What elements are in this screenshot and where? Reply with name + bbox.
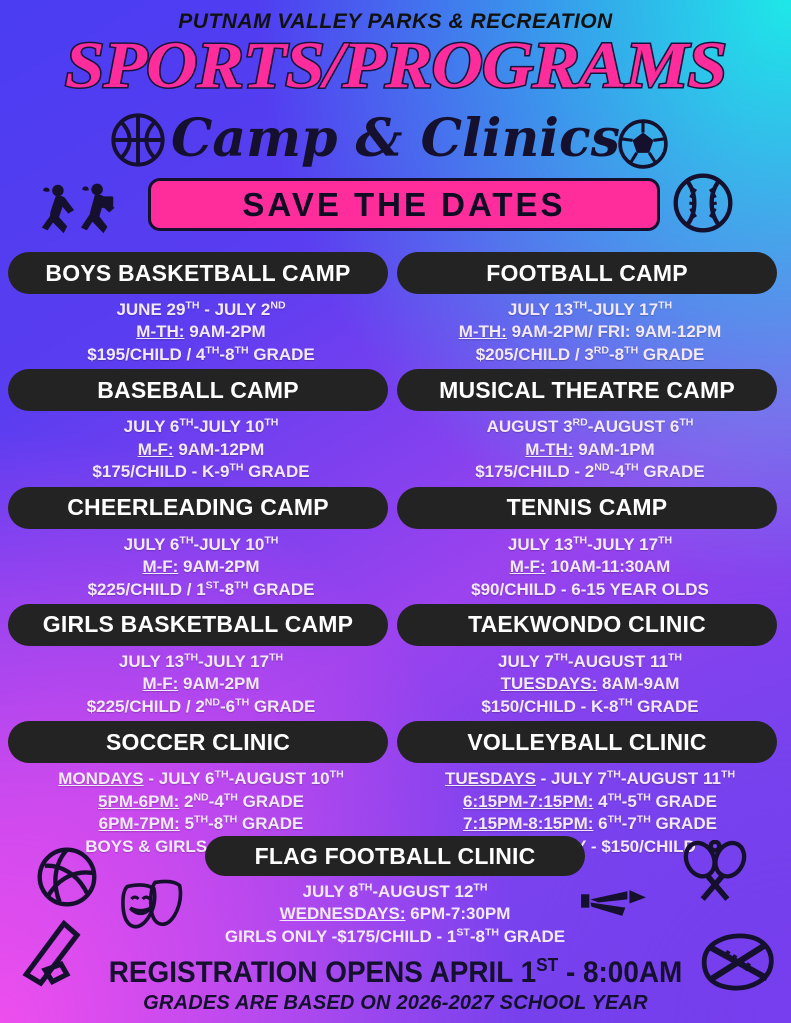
program-entry-flag-football[interactable]: FLAG FOOTBALL CLINIC JULY 8TH-AUGUST 12T…	[205, 836, 585, 948]
grades-note: GRADES ARE BASED ON 2026-2027 SCHOOL YEA…	[0, 992, 791, 1015]
program-title-pill[interactable]: FLAG FOOTBALL CLINIC	[205, 836, 585, 876]
program-dates: JULY 7TH-AUGUST 11TH	[397, 651, 783, 673]
clinic-day-range: TUESDAYS - JULY 7TH-AUGUST 11TH	[397, 768, 783, 790]
clinic-day-range: MONDAYS - JULY 6TH-AUGUST 10TH	[8, 768, 394, 790]
program-details: JULY 6TH-JULY 10TH M-F: 9AM-12PM $175/CH…	[8, 411, 394, 483]
clinic-session-2: 6PM-7PM: 5TH-8TH GRADE	[8, 813, 394, 835]
program-entry-musical-theatre[interactable]: MUSICAL THEATRE CAMP AUGUST 3RD-AUGUST 6…	[397, 369, 783, 483]
program-title-pill[interactable]: SOCCER CLINIC	[8, 721, 388, 763]
clinic-session-1: 6:15PM-7:15PM: 4TH-5TH GRADE	[397, 791, 783, 813]
program-entry-football[interactable]: FOOTBALL CAMP JULY 13TH-JULY 17TH M-TH: …	[397, 252, 783, 366]
program-dates: JULY 6TH-JULY 10TH	[8, 534, 394, 556]
program-schedule: M-F: 9AM-2PM	[8, 556, 394, 578]
program-title-pill[interactable]: CHEERLEADING CAMP	[8, 487, 388, 529]
left-program-column: BOYS BASKETBALL CAMP JUNE 29TH - JULY 2N…	[8, 252, 394, 861]
program-dates: JULY 13TH-JULY 17TH	[8, 651, 394, 673]
program-dates: JULY 13TH-JULY 17TH	[397, 299, 783, 321]
program-title-pill[interactable]: GIRLS BASKETBALL CAMP	[8, 604, 388, 646]
clinic-session-1: 5PM-6PM: 2ND-4TH GRADE	[8, 791, 394, 813]
footer-block: REGISTRATION OPENS APRIL 1ST - 8:00AM GR…	[0, 954, 791, 1015]
program-title-pill[interactable]: BOYS BASKETBALL CAMP	[8, 252, 388, 294]
program-price-grade: $225/CHILD / 2ND-6TH GRADE	[8, 696, 394, 718]
volleyball-icon	[36, 846, 98, 908]
program-details: JUNE 29TH - JULY 2ND M-TH: 9AM-2PM $195/…	[8, 294, 394, 366]
registration-notice: REGISTRATION OPENS APRIL 1ST - 8:00AM	[28, 954, 764, 990]
program-details: JULY 6TH-JULY 10TH M-F: 9AM-2PM $225/CHI…	[8, 529, 394, 601]
program-price-grade: $225/CHILD / 1ST-8TH GRADE	[8, 579, 394, 601]
theatre-masks-icon	[120, 875, 192, 929]
program-schedule: M-TH: 9AM-1PM	[397, 439, 783, 461]
right-program-column: FOOTBALL CAMP JULY 13TH-JULY 17TH M-TH: …	[397, 252, 783, 861]
program-schedule: M-F: 9AM-12PM	[8, 439, 394, 461]
baseball-icon	[672, 172, 734, 234]
taekwondo-belt-icon	[578, 884, 650, 920]
program-price-grade: $195/CHILD / 4TH-8TH GRADE	[8, 344, 394, 366]
program-title-pill[interactable]: FOOTBALL CAMP	[397, 252, 777, 294]
program-entry-girls-basketball[interactable]: GIRLS BASKETBALL CAMP JULY 13TH-JULY 17T…	[8, 604, 394, 718]
program-title-pill[interactable]: MUSICAL THEATRE CAMP	[397, 369, 777, 411]
program-schedule: WEDNESDAYS: 6PM-7:30PM	[205, 903, 585, 925]
program-title-pill[interactable]: BASEBALL CAMP	[8, 369, 388, 411]
program-details: JULY 7TH-AUGUST 11TH TUESDAYS: 8AM-9AM $…	[397, 646, 783, 718]
program-price-grade: $150/CHILD - K-8TH GRADE	[397, 696, 783, 718]
runners-icon	[36, 180, 134, 238]
program-dates: AUGUST 3RD-AUGUST 6TH	[397, 416, 783, 438]
program-details: JULY 8TH-AUGUST 12TH WEDNESDAYS: 6PM-7:3…	[205, 876, 585, 948]
program-details: JULY 13TH-JULY 17TH M-F: 9AM-2PM $225/CH…	[8, 646, 394, 718]
tennis-rackets-icon	[678, 840, 752, 904]
basketball-icon	[110, 112, 166, 168]
program-dates: JULY 13TH-JULY 17TH	[397, 534, 783, 556]
program-dates: JULY 8TH-AUGUST 12TH	[205, 881, 585, 903]
save-the-dates-label: SAVE THE DATES	[242, 186, 565, 224]
program-entry-tennis[interactable]: TENNIS CAMP JULY 13TH-JULY 17TH M-F: 10A…	[397, 487, 783, 601]
program-price-grade: $175/CHILD - K-9TH GRADE	[8, 461, 394, 483]
program-schedule: M-TH: 9AM-2PM/ FRI: 9AM-12PM	[397, 321, 783, 343]
program-details: AUGUST 3RD-AUGUST 6TH M-TH: 9AM-1PM $175…	[397, 411, 783, 483]
program-dates: JUNE 29TH - JULY 2ND	[8, 299, 394, 321]
program-entry-baseball[interactable]: BASEBALL CAMP JULY 6TH-JULY 10TH M-F: 9A…	[8, 369, 394, 483]
program-schedule: M-TH: 9AM-2PM	[8, 321, 394, 343]
program-details: JULY 13TH-JULY 17TH M-TH: 9AM-2PM/ FRI: …	[397, 294, 783, 366]
program-title-pill[interactable]: TENNIS CAMP	[397, 487, 777, 529]
soccer-ball-icon	[617, 118, 669, 170]
program-title-pill[interactable]: TAEKWONDO CLINIC	[397, 604, 777, 646]
program-schedule: M-F: 10AM-11:30AM	[397, 556, 783, 578]
program-schedule: TUESDAYS: 8AM-9AM	[397, 673, 783, 695]
clinic-session-2: 7:15PM-8:15PM: 6TH-7TH GRADE	[397, 813, 783, 835]
program-dates: JULY 6TH-JULY 10TH	[8, 416, 394, 438]
program-price-grade: $205/CHILD / 3RD-8TH GRADE	[397, 344, 783, 366]
program-entry-taekwondo[interactable]: TAEKWONDO CLINIC JULY 7TH-AUGUST 11TH TU…	[397, 604, 783, 718]
program-schedule: M-F: 9AM-2PM	[8, 673, 394, 695]
program-title-pill[interactable]: VOLLEYBALL CLINIC	[397, 721, 777, 763]
poster-canvas: PUTNAM VALLEY PARKS & RECREATION SPORTS/…	[0, 0, 791, 1023]
save-the-dates-banner: SAVE THE DATES	[148, 178, 660, 231]
program-price-grade: GIRLS ONLY -$175/CHILD - 1ST-8TH GRADE	[205, 926, 585, 948]
program-price-grade: $175/CHILD - 2ND-4TH GRADE	[397, 461, 783, 483]
program-entry-cheerleading[interactable]: CHEERLEADING CAMP JULY 6TH-JULY 10TH M-F…	[8, 487, 394, 601]
page-title: SPORTS/PROGRAMS	[0, 33, 791, 99]
program-price-grade: $90/CHILD - 6-15 YEAR OLDS	[397, 579, 783, 601]
program-details: JULY 13TH-JULY 17TH M-F: 10AM-11:30AM $9…	[397, 529, 783, 601]
program-entry-boys-basketball[interactable]: BOYS BASKETBALL CAMP JUNE 29TH - JULY 2N…	[8, 252, 394, 366]
